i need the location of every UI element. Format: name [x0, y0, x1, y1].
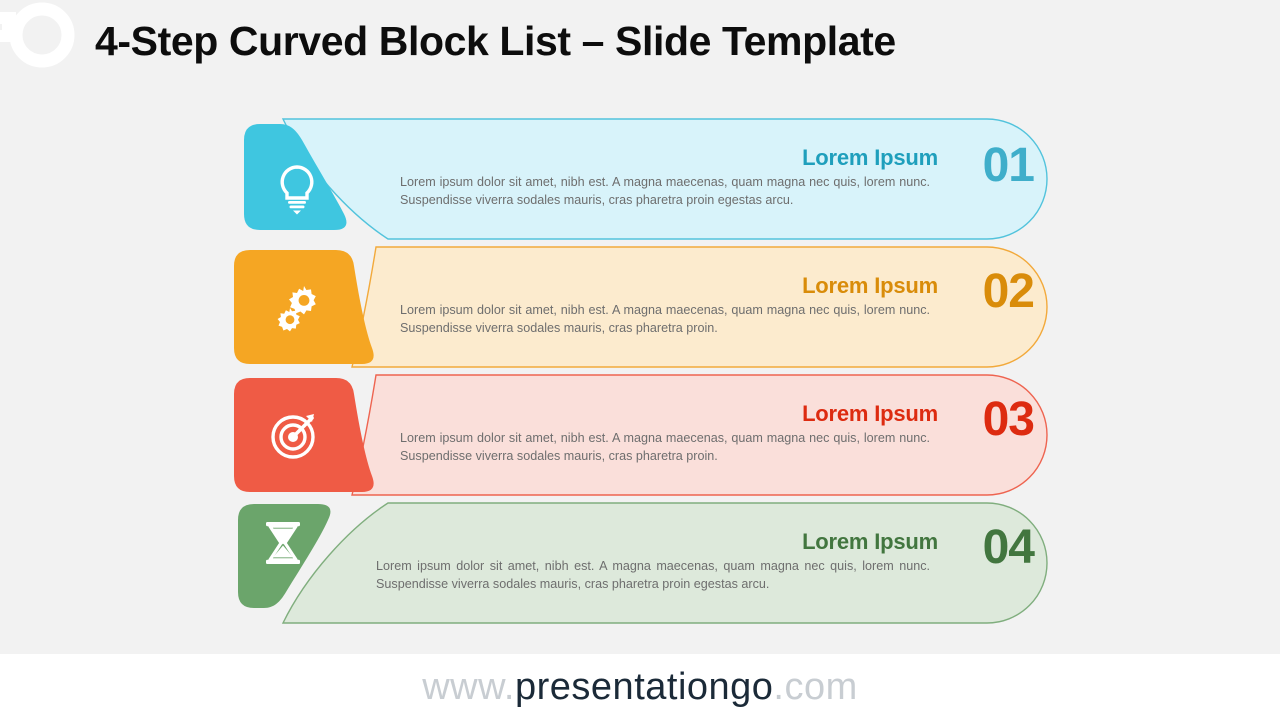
- step-number: 02: [983, 268, 1034, 316]
- website-url[interactable]: www.presentationgo.com: [0, 666, 1280, 709]
- step-heading: Lorem Ipsum: [802, 529, 938, 555]
- gears-icon: [270, 280, 324, 334]
- step-number: 03: [983, 396, 1034, 444]
- go-logo-watermark: [0, 0, 82, 76]
- step-block-3[interactable]: Lorem Ipsum Lorem ipsum dolor sit amet, …: [228, 374, 1048, 496]
- footer-bar: www.presentationgo.com: [0, 654, 1280, 720]
- url-brand: presentationgo: [515, 666, 773, 708]
- step-heading: Lorem Ipsum: [802, 273, 938, 299]
- steps-list: Lorem Ipsum Lorem ipsum dolor sit amet, …: [0, 112, 1280, 624]
- lightbulb-icon: [270, 161, 324, 215]
- step-number: 04: [983, 524, 1034, 572]
- url-prefix: www.: [422, 666, 515, 708]
- step-number: 01: [983, 142, 1034, 190]
- step-block-1[interactable]: Lorem Ipsum Lorem ipsum dolor sit amet, …: [228, 118, 1048, 240]
- page-title: 4-Step Curved Block List – Slide Templat…: [95, 18, 896, 65]
- step-body-text: Lorem ipsum dolor sit amet, nibh est. A …: [376, 558, 930, 594]
- step-body-text: Lorem ipsum dolor sit amet, nibh est. A …: [400, 174, 930, 210]
- step-block-2[interactable]: Lorem Ipsum Lorem ipsum dolor sit amet, …: [228, 246, 1048, 368]
- target-icon: [268, 408, 322, 462]
- step-body-text: Lorem ipsum dolor sit amet, nibh est. A …: [400, 430, 930, 466]
- step-heading: Lorem Ipsum: [802, 401, 938, 427]
- step-heading: Lorem Ipsum: [802, 145, 938, 171]
- step-block-4[interactable]: Lorem Ipsum Lorem ipsum dolor sit amet, …: [228, 502, 1048, 624]
- hourglass-icon: [256, 516, 310, 570]
- url-suffix: .com: [773, 666, 857, 708]
- step-body-text: Lorem ipsum dolor sit amet, nibh est. A …: [400, 302, 930, 338]
